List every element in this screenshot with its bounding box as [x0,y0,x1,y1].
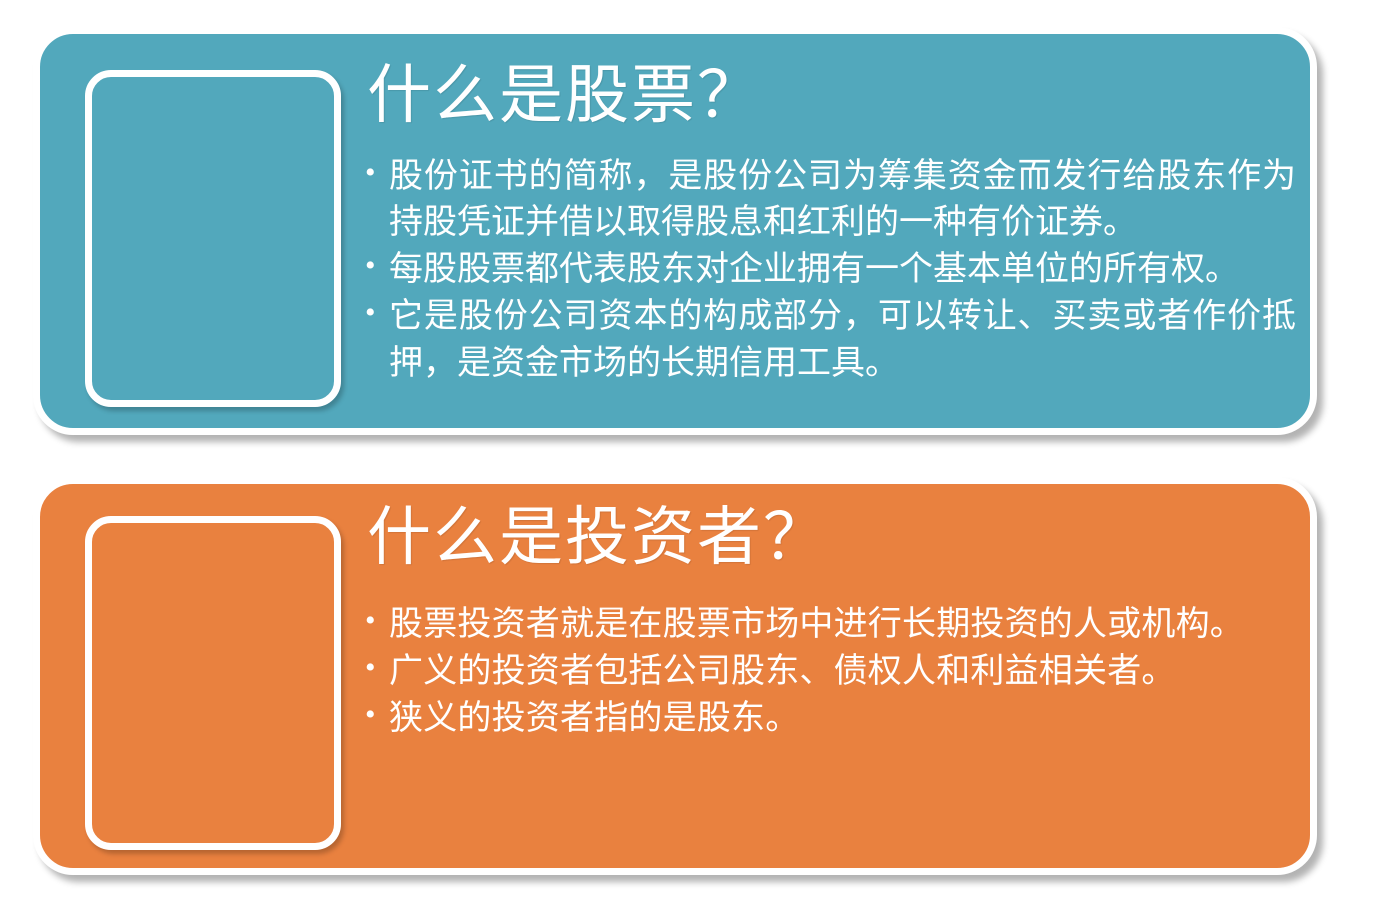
list-item: 股份证书的简称，是股份公司为筹集资金而发行给股东作为持股凭证并借以取得股息和红利… [365,154,1296,246]
investor-panel: 什么是投资者？ 股票投资者就是在股票市场中进行长期投资的人或机构。 广义的投资者… [33,477,1317,875]
investor-panel-content: 什么是投资者？ 股票投资者就是在股票市场中进行长期投资的人或机构。 广义的投资者… [365,484,1296,868]
picture-placeholder-icon [85,70,341,407]
picture-placeholder-icon [85,516,341,850]
list-item: 它是股份公司资本的构成部分，可以转让、买卖或者作价抵押，是资金市场的长期信用工具… [365,294,1296,386]
list-item: 每股股票都代表股东对企业拥有一个基本单位的所有权。 [365,247,1296,293]
investor-panel-bullet-list: 股票投资者就是在股票市场中进行长期投资的人或机构。 广义的投资者包括公司股东、债… [365,602,1296,743]
stock-panel-bullet-list: 股份证书的简称，是股份公司为筹集资金而发行给股东作为持股凭证并借以取得股息和红利… [365,154,1296,387]
list-item: 股票投资者就是在股票市场中进行长期投资的人或机构。 [365,602,1296,648]
list-item: 广义的投资者包括公司股东、债权人和利益相关者。 [365,649,1296,695]
stock-panel: 什么是股票？ 股份证书的简称，是股份公司为筹集资金而发行给股东作为持股凭证并借以… [33,27,1317,435]
investor-panel-title: 什么是投资者？ [365,484,1296,574]
stock-panel-title: 什么是股票？ [365,34,1296,132]
list-item: 狭义的投资者指的是股东。 [365,696,1296,742]
stock-panel-content: 什么是股票？ 股份证书的简称，是股份公司为筹集资金而发行给股东作为持股凭证并借以… [365,34,1296,428]
slide-canvas: 什么是股票？ 股份证书的简称，是股份公司为筹集资金而发行给股东作为持股凭证并借以… [0,0,1379,898]
